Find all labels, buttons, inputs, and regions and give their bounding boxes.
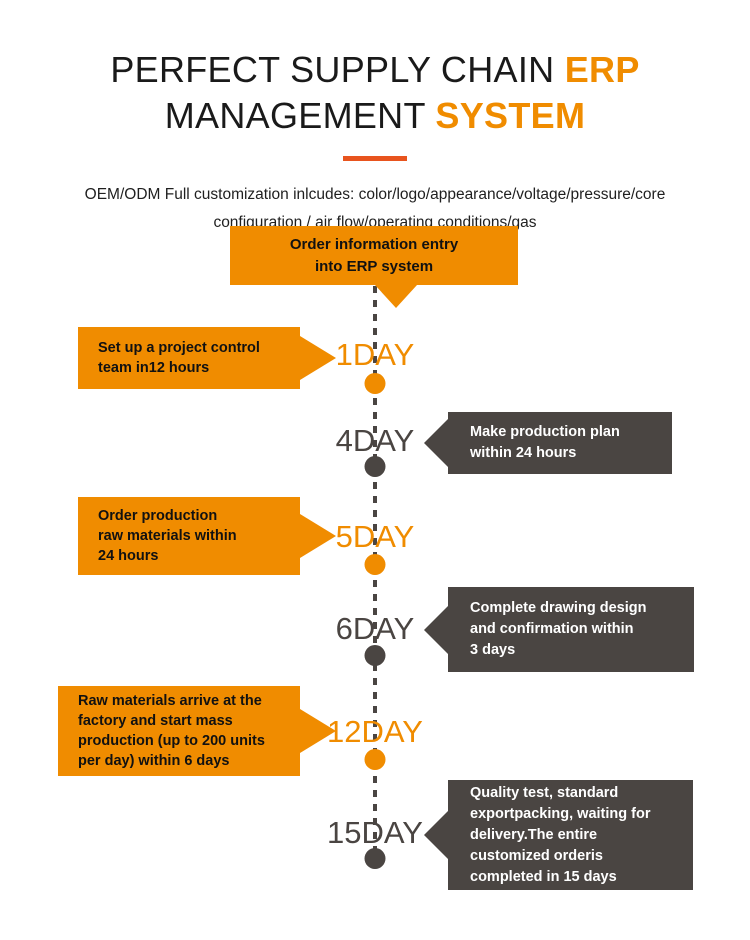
callout-text: Raw materials arrive at the factory and … bbox=[58, 691, 300, 771]
page-title-accent-erp: ERP bbox=[565, 49, 640, 90]
page-title-accent-system: SYSTEM bbox=[435, 95, 585, 136]
callout-order-production-raw-materials: Order production raw materials within 24… bbox=[78, 497, 300, 575]
timeline-node-dot-5day bbox=[365, 554, 386, 575]
page-header: PERFECT SUPPLY CHAIN ERP MANAGEMENT SYST… bbox=[0, 0, 750, 237]
page-title-line-2: MANAGEMENT SYSTEM bbox=[0, 94, 750, 138]
callout-arrow-right-icon bbox=[300, 514, 336, 558]
day-label-1day: 1DAY bbox=[336, 339, 415, 370]
callout-complete-drawing-design: Complete drawing design and confirmation… bbox=[448, 587, 694, 672]
callout-quality-test-export-packing: Quality test, standard exportpacking, wa… bbox=[448, 780, 693, 890]
page-title-line-1: PERFECT SUPPLY CHAIN ERP bbox=[0, 48, 750, 92]
day-label-6day: 6DAY bbox=[336, 613, 415, 644]
callout-arrow-right-icon bbox=[300, 336, 336, 380]
callout-text: Set up a project control team in12 hours bbox=[78, 338, 300, 378]
day-label-15day: 15DAY bbox=[327, 817, 423, 848]
callout-text: Make production plan within 24 hours bbox=[448, 422, 672, 464]
callout-arrow-down-icon bbox=[375, 285, 417, 308]
callout-arrow-left-icon bbox=[424, 606, 448, 654]
callout-arrow-left-icon bbox=[424, 811, 448, 859]
callout-text: Quality test, standard exportpacking, wa… bbox=[448, 783, 693, 888]
timeline-node-dot-4day bbox=[365, 456, 386, 477]
callout-text: Complete drawing design and confirmation… bbox=[448, 598, 694, 661]
day-label-12day: 12DAY bbox=[327, 716, 423, 747]
timeline-node-dot-6day bbox=[365, 645, 386, 666]
page-title-plain-2: MANAGEMENT bbox=[165, 95, 436, 136]
page-title-plain-1: PERFECT SUPPLY CHAIN bbox=[110, 49, 564, 90]
timeline-node-dot-1day bbox=[365, 373, 386, 394]
callout-make-production-plan: Make production plan within 24 hours bbox=[448, 412, 672, 474]
timeline-node-dot-15day bbox=[365, 848, 386, 869]
callout-raw-materials-arrive-factory: Raw materials arrive at the factory and … bbox=[58, 686, 300, 776]
callout-order-information-entry: Order information entry into ERP system bbox=[230, 226, 518, 285]
callout-text: Order information entry into ERP system bbox=[230, 234, 518, 278]
day-label-5day: 5DAY bbox=[336, 521, 415, 552]
timeline-node-dot-12day bbox=[365, 749, 386, 770]
title-divider bbox=[343, 156, 407, 161]
callout-text: Order production raw materials within 24… bbox=[78, 506, 300, 566]
callout-set-up-project-control-team: Set up a project control team in12 hours bbox=[78, 327, 300, 389]
day-label-4day: 4DAY bbox=[336, 425, 415, 456]
callout-arrow-left-icon bbox=[424, 419, 448, 467]
